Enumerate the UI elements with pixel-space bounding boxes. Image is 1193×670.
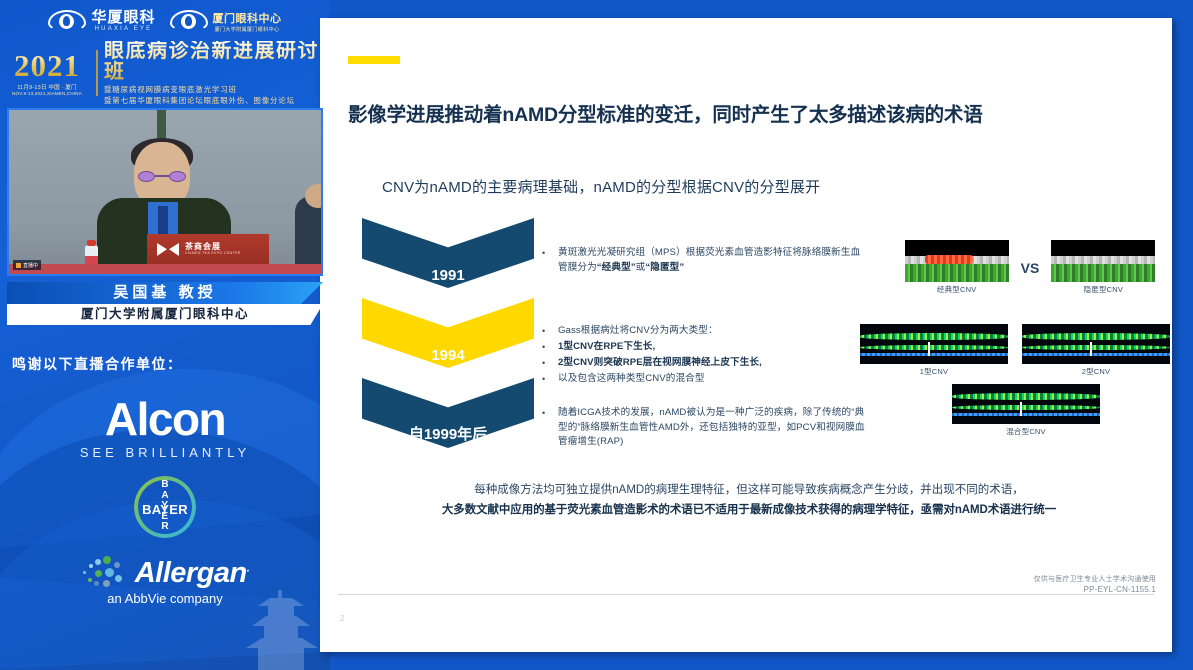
speaker-name: 吴国基 教授 [7, 282, 323, 304]
bullet-dot-icon: • [542, 372, 549, 387]
bullet-group-1994: • Gass根据病灶将CNV分为两大类型： • 1型CNV在RPE下生长, • … [542, 324, 867, 388]
oct-image-row-1: 经典型CNV VS 隐匿型CNV [885, 240, 1175, 295]
oct-scan-image [1051, 240, 1155, 282]
sponsor-allergan: Allergan. an AbbVie company [0, 556, 330, 606]
bullet-dot-icon: • [542, 246, 549, 275]
oct-caption: 1型CNV [860, 366, 1008, 377]
page-number: 2 [340, 614, 344, 623]
event-subtitle-1: 暨糖尿病视网膜病变眼底激光学习班 [104, 85, 326, 94]
allergan-wordmark: Allergan [135, 557, 247, 589]
bullet-dot-icon: • [542, 324, 549, 339]
event-date-cn: 11月9-13日 中国 · 厦门 [4, 83, 90, 91]
oct-figure-classic: 经典型CNV [905, 240, 1009, 295]
slide-conclusion: 每种成像方法均可独立提供nAMD的病理生理特征，但这样可能导致疾病概念产生分歧，… [354, 480, 1144, 520]
speaker-name-banner: 吴国基 教授 [7, 282, 323, 304]
oct-scan-image [1022, 324, 1170, 364]
bullet-text: 2型CNV则突破RPE层在视网膜神经上皮下生长, [558, 356, 762, 371]
event-date-en: NOV.9-13,2021,XIAMEN,CHINA [4, 91, 90, 96]
bullet-item: • Gass根据病灶将CNV分为两大类型： [542, 324, 867, 339]
butterfly-logo-icon [157, 243, 179, 256]
brand-huaxia-cn: 华厦眼科 [91, 10, 155, 26]
event-banner: 2021 11月9-13日 中国 · 厦门 NOV.9-13,2021,XIAM… [4, 42, 326, 104]
timeline-chevron-1991: 1991 [362, 218, 534, 288]
timeline-label: 自1999年后 [409, 423, 487, 448]
oct-figure-type2: 2型CNV [1022, 324, 1170, 377]
bullet-text-bold: 2型CNV则突破RPE层在视网膜神经上皮下生长, [558, 357, 762, 368]
bullet-text: 以及包含这两种类型CNV的混合型 [558, 372, 705, 387]
bullet-text-bold2: “隐匿型” [645, 262, 684, 273]
timeline-label: 1991 [431, 267, 464, 288]
bullet-text: 1型CNV在RPE下生长, [558, 340, 655, 355]
conclusion-line-2: 大多数文献中应用的基于荧光素血管造影术的术语已不适用于最新成像技术获得的病理学特… [354, 500, 1144, 520]
bullet-dot-icon: • [542, 356, 549, 371]
event-subtitle-2: 暨第七届华厦眼科集团论坛眼底眼外伤、图像分论坛 [104, 96, 326, 105]
bullet-item: • 黄斑激光光凝研究组（MPS）根据荧光素血管造影特征将脉络膜新生血管膜分为“经… [542, 246, 867, 275]
allergan-tagline: an AbbVie company [0, 591, 330, 606]
bullet-dot-icon: • [542, 406, 549, 450]
podium-label-en: XIAMEN TEA EXPO CENTER [185, 251, 241, 255]
chevron-timeline: 1991 1994 自1999年后 [362, 218, 552, 458]
presentation-slide[interactable]: 影像学进展推动着nAMD分型标准的变迁，同时产生了太多描述该病的术语 CNV为n… [320, 18, 1172, 652]
bullet-group-1991: • 黄斑激光光凝研究组（MPS）根据荧光素血管造影特征将脉络膜新生血管膜分为“经… [542, 246, 867, 276]
oct-vs-label: VS [1021, 260, 1040, 276]
eye-logo-icon [170, 10, 208, 32]
brand-huaxia-en: HUAXIA EYE [91, 26, 155, 32]
speaker-org-banner: 厦门大学附属厦门眼科中心 [7, 304, 323, 325]
timeline-label: 1994 [431, 347, 464, 368]
alcon-logo-text: Alcon [0, 396, 330, 442]
bullet-text-bold: “经典型” [597, 262, 636, 273]
live-badge: 直播中 [13, 260, 41, 270]
bullet-item: • 以及包含这两种类型CNV的混合型 [542, 372, 867, 387]
oct-figure-type1: 1型CNV [860, 324, 1008, 377]
speaker-organization: 厦门大学附属厦门眼科中心 [7, 304, 323, 325]
timeline-chevron-1999: 自1999年后 [362, 378, 534, 448]
brand-xiamen-sub: 厦门大学附属厦门眼科中心 [213, 26, 282, 33]
oct-image-row-3: 混合型CNV [952, 384, 1100, 437]
bullet-item: • 2型CNV则突破RPE层在视网膜神经上皮下生长, [542, 356, 867, 371]
oct-scan-image [905, 240, 1009, 282]
oct-scan-image [860, 324, 1008, 364]
event-year-block: 2021 11月9-13日 中国 · 厦门 NOV.9-13,2021,XIAM… [4, 50, 90, 96]
brand-xiamen-cn: 厦门眼科中心 [213, 10, 282, 26]
accent-bar [348, 56, 400, 64]
eye-logo-icon [48, 10, 86, 32]
sponsor-section-label: 鸣谢以下直播合作单位： [12, 354, 183, 374]
glasses-icon [137, 168, 187, 181]
bullet-text-plain2: 或 [636, 262, 646, 273]
allergan-logo-text: Allergan. [135, 557, 250, 590]
footer-disclaimer: 仅供与医疗卫生专业人士学术沟通使用 [1034, 574, 1156, 584]
oct-figure-occult: 隐匿型CNV [1051, 240, 1155, 295]
footer-code: PP-EYL-CN-1155.1 [1034, 585, 1156, 594]
bullet-text-bold: 1型CNV在RPE下生长, [558, 341, 655, 352]
brand-huaxia-eye: 华厦眼科 HUAXIA EYE [48, 10, 155, 32]
conference-table [9, 264, 321, 274]
conclusion-line-1: 每种成像方法均可独立提供nAMD的病理生理特征，但这样可能导致疾病概念产生分歧，… [354, 480, 1144, 500]
slide-footer-note: 仅供与医疗卫生专业人士学术沟通使用 PP-EYL-CN-1155.1 [1034, 574, 1156, 594]
bullet-item: • 随着ICGA技术的发展，nAMD被认为是一种广泛的疾病，除了传统的“典型的”… [542, 406, 867, 450]
allergan-dots-icon [81, 556, 127, 590]
sponsor-alcon: Alcon SEE BRILLIANTLY [0, 396, 330, 460]
bullet-dot-icon: • [542, 340, 549, 355]
event-year: 2021 [4, 50, 90, 81]
oct-caption: 经典型CNV [905, 284, 1009, 295]
bullet-text: 黄斑激光光凝研究组（MPS）根据荧光素血管造影特征将脉络膜新生血管膜分为“经典型… [558, 246, 867, 275]
bullet-text: 随着ICGA技术的发展，nAMD被认为是一种广泛的疾病，除了传统的“典型的”脉络… [558, 406, 867, 450]
oct-caption: 隐匿型CNV [1051, 284, 1155, 295]
bullet-item: • 1型CNV在RPE下生长, [542, 340, 867, 355]
event-title-block: 眼底病诊治新进展研讨班 暨糖尿病视网膜病变眼底激光学习班 暨第七届华厦眼科集团论… [104, 41, 326, 105]
bullet-group-1999: • 随着ICGA技术的发展，nAMD被认为是一种广泛的疾病，除了传统的“典型的”… [542, 406, 867, 451]
broadcast-sidebar: 华厦眼科 HUAXIA EYE 厦门眼科中心 厦门大学附属厦门眼科中心 2021… [0, 0, 330, 670]
bayer-logo-horizontal: BAYER [134, 502, 196, 517]
oct-image-row-2: 1型CNV 2型CNV [860, 324, 1170, 377]
live-dot-icon [16, 263, 21, 268]
alcon-tagline: SEE BRILLIANTLY [0, 445, 330, 460]
brand-xiamen-eye-center: 厦门眼科中心 厦门大学附属厦门眼科中心 [170, 10, 282, 33]
live-video-feed[interactable]: 茶商会展 XIAMEN TEA EXPO CENTER 直播中 [7, 108, 323, 276]
footer-divider [338, 594, 1154, 595]
bullet-text: Gass根据病灶将CNV分为两大类型： [558, 324, 718, 339]
brand-header: 华厦眼科 HUAXIA EYE 厦门眼科中心 厦门大学附属厦门眼科中心 [0, 0, 330, 42]
live-badge-label: 直播中 [23, 262, 38, 269]
timeline-chevron-1994: 1994 [362, 298, 534, 368]
oct-caption: 2型CNV [1022, 366, 1170, 377]
sponsor-bayer: BAYER BAYER [134, 476, 196, 538]
oct-caption: 混合型CNV [952, 426, 1100, 437]
slide-subtitle: CNV为nAMD的主要病理基础，nAMD的分型根据CNV的分型展开 [382, 176, 820, 197]
event-title: 眼底病诊治新进展研讨班 [104, 41, 326, 83]
slide-title: 影像学进展推动着nAMD分型标准的变迁，同时产生了太多描述该病的术语 [348, 98, 1153, 127]
divider [96, 50, 98, 96]
oct-scan-image [952, 384, 1100, 424]
